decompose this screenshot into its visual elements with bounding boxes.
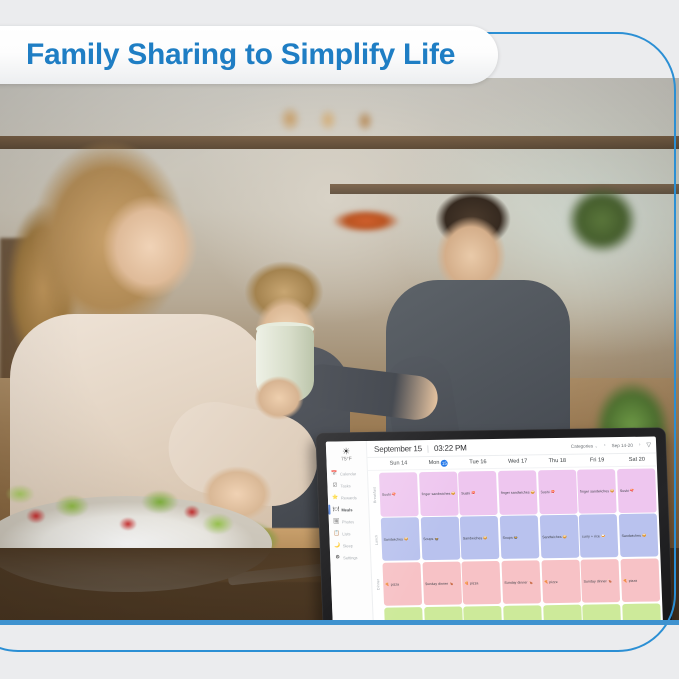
meal-grid: Breakfast Lunch Dinner Snacks Sushi 🍣 fi… — [368, 466, 664, 624]
sidebar-item-calendar[interactable]: 📅 Calendar — [327, 467, 367, 480]
page-root: ☀ 75°F 📅 Calendar ☑ Tasks — [0, 0, 679, 679]
sidebar-item-rewards[interactable]: ⭐ Rewards — [328, 491, 368, 504]
meal-row-dinner: 🍕 pizza Sunday dinner 🍗 🍕 pizza Sunday d… — [382, 558, 660, 607]
sun-icon: ☀ — [326, 446, 366, 457]
checkbox-icon: ☑ — [331, 482, 338, 489]
day-label: Sat 20 — [629, 457, 645, 463]
meal-cell[interactable]: curry + rice 🍛 — [579, 514, 619, 558]
meal-cell[interactable]: finger sandwiches 🥪 — [498, 471, 538, 515]
today-badge: 15 — [441, 459, 448, 466]
sidebar-item-tasks[interactable]: ☑ Tasks — [327, 479, 367, 492]
sidebar-nav-list: 📅 Calendar ☑ Tasks ⭐ Rewards — [327, 467, 371, 564]
day-label: Sun 14 — [390, 460, 408, 466]
day-label: Tue 16 — [469, 459, 486, 465]
meal-text: Sandwiches 🥪 — [621, 533, 646, 537]
sidebar-item-label: Tasks — [340, 483, 350, 488]
meal-text: Sushi 🍣 — [461, 491, 476, 495]
meal-cell[interactable]: Sandwiches 🥪 — [619, 514, 659, 558]
day-header-wed[interactable]: Wed 17 — [498, 458, 538, 465]
sidebar-item-label: Lists — [342, 531, 350, 536]
moon-icon: 🌙 — [334, 542, 341, 549]
meal-cell[interactable]: Soups 🍲 — [420, 517, 460, 561]
meal-text: Soups 🍲 — [502, 535, 518, 539]
meal-text: finger sandwiches 🥪 — [501, 490, 535, 495]
current-time: 03:22 PM — [434, 443, 467, 453]
day-header-sun[interactable]: Sun 14 — [379, 460, 419, 467]
topbar-separator: | — [427, 444, 429, 453]
plate-icon: 🍽 — [332, 506, 339, 513]
meal-cell[interactable]: Soups 🍲 — [500, 516, 540, 560]
next-week-button[interactable]: › — [638, 442, 642, 448]
meal-text: 🍕 pizza — [385, 582, 399, 586]
day-header-mon-today[interactable]: Mon 15 — [418, 459, 458, 467]
meal-cell[interactable]: 🍕 pizza — [462, 561, 502, 605]
meal-text: Sushi 🍣 — [540, 490, 555, 494]
meal-cell[interactable]: Sushi 🍣 — [379, 473, 419, 517]
meal-cell[interactable]: 🍕 pizza — [382, 562, 422, 606]
current-date: September 15 — [374, 444, 422, 454]
kitchen-photo: ☀ 75°F 📅 Calendar ☑ Tasks — [0, 78, 679, 624]
sidebar-item-label: Photos — [342, 519, 355, 524]
sidebar-item-settings[interactable]: ⚙ Settings — [330, 551, 370, 564]
meal-cell[interactable]: Sushi 🍣 — [458, 471, 498, 515]
photo-icon: 🖼 — [333, 518, 340, 525]
meal-row-lunch: Sandwiches 🥪 Soups 🍲 Sandwiches 🥪 Soups … — [381, 513, 659, 562]
day-header-fri[interactable]: Fri 19 — [577, 457, 617, 464]
sidebar-item-photos[interactable]: 🖼 Photos — [329, 515, 369, 528]
meal-cell[interactable]: Sandwiches 🥪 — [539, 515, 579, 559]
meal-text: Sushi 🍣 — [382, 492, 397, 496]
day-header-tue[interactable]: Tue 16 — [458, 459, 498, 466]
prev-week-button[interactable]: ‹ — [603, 442, 607, 448]
meal-cell[interactable]: Sunday dinner 🍗 — [501, 560, 541, 604]
day-label: Wed 17 — [508, 459, 527, 465]
page-title: Family Sharing to Simplify Life — [26, 38, 455, 72]
calendar-icon: 📅 — [331, 470, 338, 477]
meal-text: 🍕 pizza — [544, 580, 558, 584]
meal-text: Sunday dinner 🍗 — [425, 581, 454, 585]
sidebar-item-label: Settings — [343, 555, 358, 560]
day-label: Fri 19 — [590, 457, 605, 463]
weather-widget[interactable]: ☀ 75°F — [326, 444, 367, 466]
chevron-down-icon: ⌄ — [594, 443, 598, 448]
meal-text: Sandwiches 🥪 — [383, 537, 408, 541]
sidebar-item-label: Calendar — [340, 471, 356, 476]
sidebar-item-label: Meals — [341, 507, 352, 512]
categories-label: Categories — [571, 443, 593, 448]
meal-text: Soups 🍲 — [423, 537, 439, 541]
day-label: Thu 18 — [549, 458, 567, 464]
meal-cell[interactable]: 🍕 pizza — [541, 560, 581, 604]
meal-cell[interactable]: Sunday dinner 🍗 — [581, 559, 621, 603]
list-icon: 📋 — [333, 530, 340, 537]
bottom-accent-line — [0, 620, 679, 625]
meal-cell[interactable]: 🍕 pizza — [620, 558, 660, 602]
meal-cell[interactable]: Sushi 🍣 — [538, 470, 578, 514]
app-main: September 15 | 03:22 PM Categories ⌄ ‹ S… — [367, 436, 664, 624]
meal-text: Sandwiches 🥪 — [542, 535, 567, 539]
meal-cell[interactable]: Sandwiches 🥪 — [381, 517, 421, 561]
tablet-screen[interactable]: ☀ 75°F 📅 Calendar ☑ Tasks — [326, 436, 664, 624]
categories-dropdown[interactable]: Categories ⌄ — [571, 443, 598, 448]
meal-text: Sunday dinner 🍗 — [584, 579, 613, 583]
tablet-bezel: ☀ 75°F 📅 Calendar ☑ Tasks — [315, 427, 674, 624]
meal-text: Sushi 🍣 — [620, 489, 635, 493]
headline-banner: Family Sharing to Simplify Life — [0, 26, 498, 84]
meal-text: Sunday dinner 🍗 — [504, 580, 533, 584]
meal-cell[interactable]: finger sandwiches 🥪 — [577, 469, 617, 513]
meal-text: finger sandwiches 🥪 — [421, 492, 455, 497]
day-header-thu[interactable]: Thu 18 — [537, 458, 577, 465]
sidebar-item-label: Sleep — [343, 543, 353, 548]
meal-cell[interactable]: Sushi 🍣 — [617, 469, 657, 513]
meal-text: curry + rice 🍛 — [582, 534, 606, 538]
gear-icon: ⚙ — [334, 554, 341, 561]
star-icon: ⭐ — [332, 494, 339, 501]
week-range-label: Sep 14-20 — [612, 442, 633, 447]
meal-text: Sandwiches 🥪 — [463, 536, 488, 540]
meal-row-breakfast: Sushi 🍣 finger sandwiches 🥪 Sushi 🍣 fing… — [379, 468, 657, 517]
meal-cell[interactable]: finger sandwiches 🥪 — [419, 472, 459, 516]
topbar-spacer — [472, 446, 566, 447]
meal-text: 🍕 pizza — [465, 581, 479, 585]
day-label: Mon — [428, 460, 439, 466]
sidebar-item-label: Rewards — [341, 495, 357, 500]
sidebar-item-lists[interactable]: 📋 Lists — [329, 527, 369, 540]
meal-rows: Sushi 🍣 finger sandwiches 🥪 Sushi 🍣 fing… — [379, 468, 662, 624]
day-header-sat[interactable]: Sat 20 — [617, 456, 657, 463]
weather-temperature: 75°F — [326, 456, 366, 463]
meal-cell[interactable]: Sandwiches 🥪 — [460, 516, 500, 560]
filter-icon[interactable]: ▽ — [646, 441, 651, 448]
meal-text: 🍕 pizza — [623, 578, 637, 582]
meal-text: finger sandwiches 🥪 — [580, 489, 614, 494]
sidebar-item-sleep[interactable]: 🌙 Sleep — [330, 539, 370, 552]
meal-cell[interactable]: Sunday dinner 🍗 — [422, 562, 462, 606]
sidebar-item-meals[interactable]: 🍽 Meals — [328, 503, 368, 516]
family-calendar-tablet[interactable]: ☀ 75°F 📅 Calendar ☑ Tasks — [315, 427, 674, 624]
